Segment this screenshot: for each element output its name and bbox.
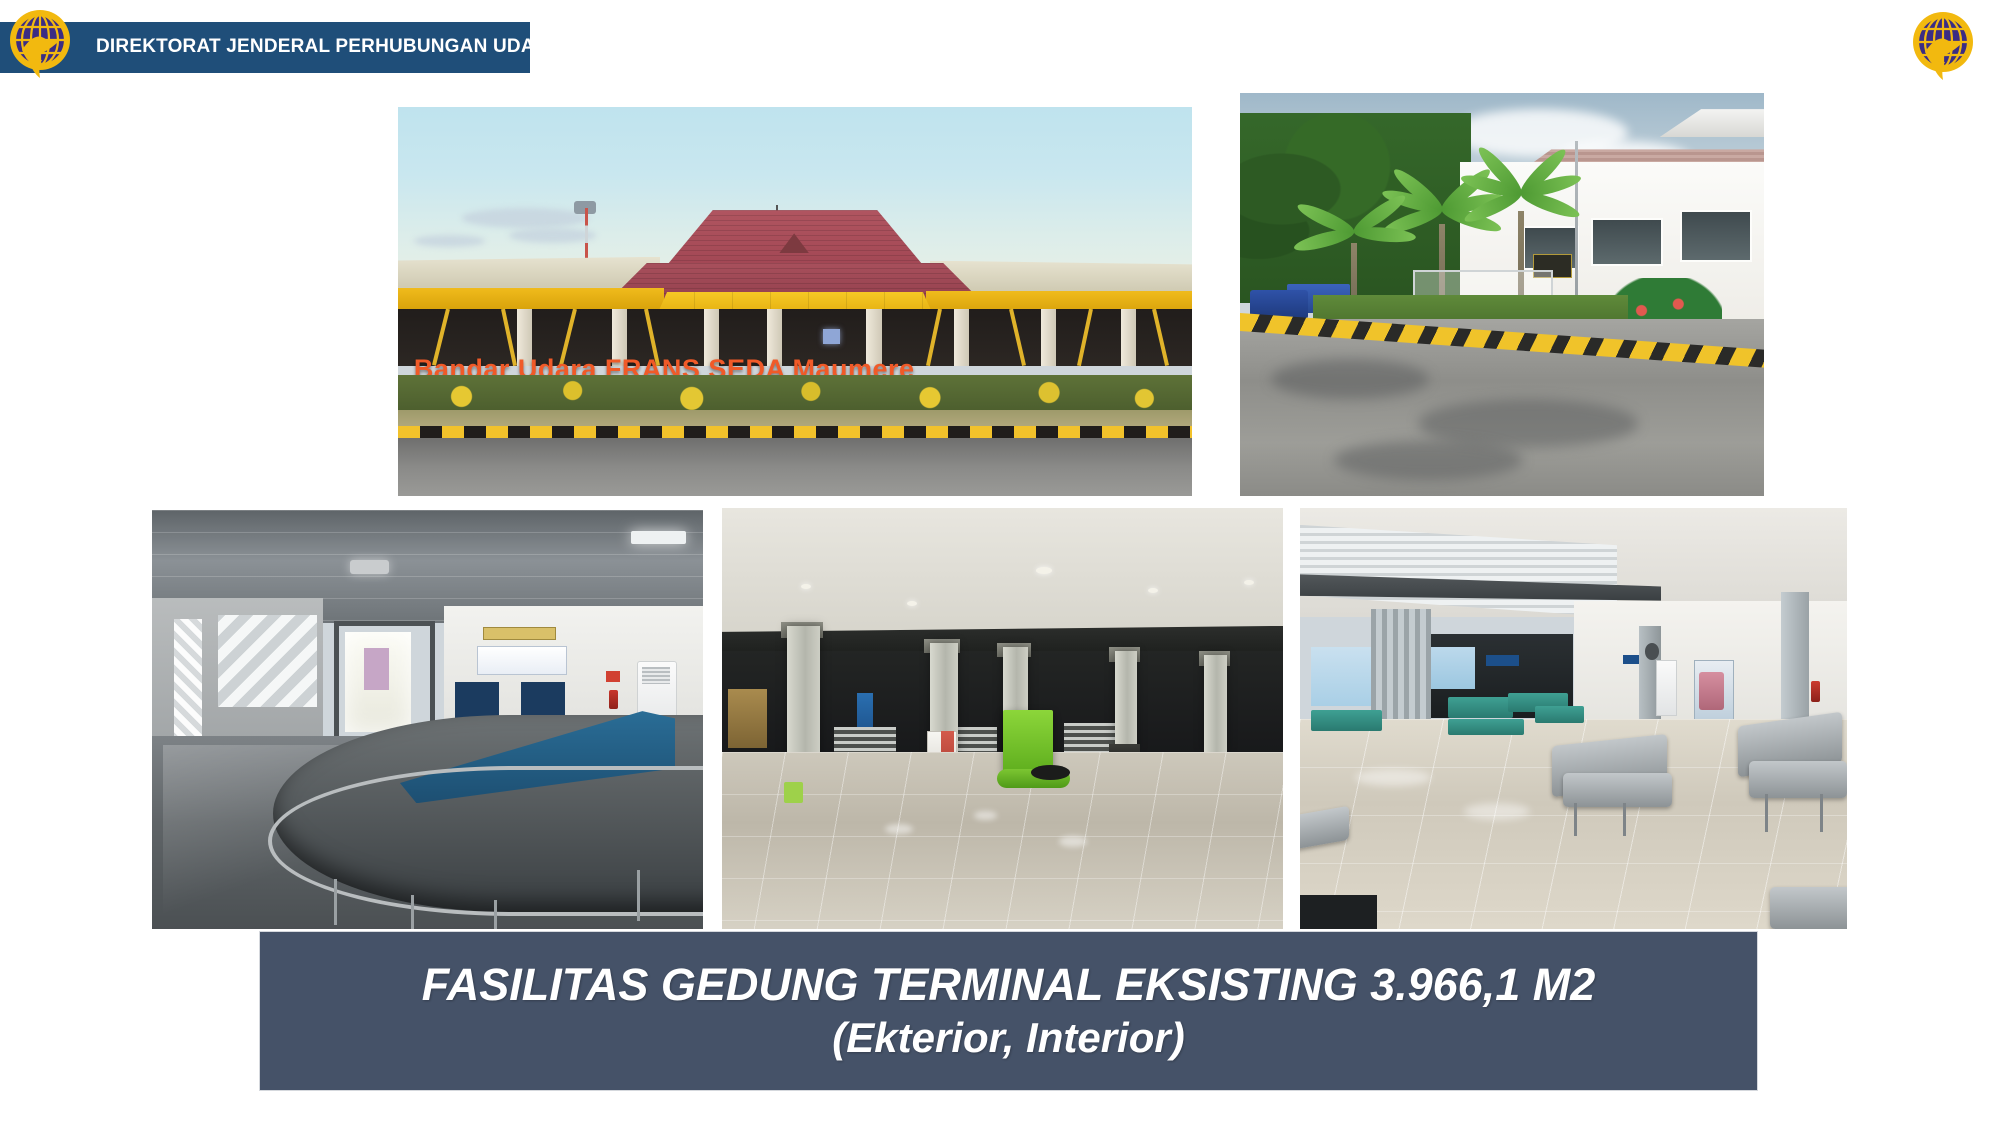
baggage-inlet-hood <box>455 682 499 720</box>
ceiling-speaker <box>1036 567 1052 574</box>
wooden-partition <box>728 689 767 748</box>
marble-column <box>787 626 821 761</box>
cloud <box>509 228 596 244</box>
header-title: DIREKTORAT JENDERAL PERHUBUNGAN UDARA <box>96 30 526 64</box>
photo-baggage-claim <box>152 510 703 929</box>
cloud <box>414 235 485 247</box>
photo-terminal-side <box>1240 93 1764 496</box>
waiting-seat-row <box>1448 697 1514 718</box>
painted-curb <box>398 426 1192 439</box>
waiting-seat-row <box>1770 887 1847 929</box>
flight-information-display <box>1486 655 1519 666</box>
decorative-wall-panel <box>218 615 317 707</box>
fire-extinguisher-icon <box>609 690 618 709</box>
ceiling-light <box>350 560 389 573</box>
baggage-inlet-hood <box>521 682 565 720</box>
ceiling-downlight <box>801 584 811 589</box>
hall-ceiling <box>722 508 1283 634</box>
floor-reflection <box>974 811 996 819</box>
floor-reflection <box>885 824 913 835</box>
wet-patch <box>1271 359 1428 399</box>
floor-standing-ac <box>1656 660 1677 717</box>
carousel-leg <box>334 879 337 925</box>
wall-banner <box>477 646 567 675</box>
photo-checkin-hall <box>722 508 1283 929</box>
information-display <box>823 329 840 345</box>
foreground-shadow <box>1300 895 1377 929</box>
access-road <box>398 438 1192 496</box>
floor-reflection <box>1059 836 1087 847</box>
wall-fan-icon <box>1645 643 1659 660</box>
xray-scanner <box>1003 710 1053 773</box>
globe-garuda-logo-icon <box>8 6 76 82</box>
ceiling-light <box>631 531 686 544</box>
roof-wing-left <box>398 257 660 288</box>
photo-terminal-front: Bandar Udara FRANS SEDA Maumere <box>398 107 1192 496</box>
marble-column <box>1204 655 1226 752</box>
cloud <box>462 208 589 227</box>
exterior-window <box>1311 647 1377 706</box>
carousel-leg <box>637 870 640 920</box>
banner-figure <box>1699 672 1724 710</box>
ac-grill <box>642 667 670 684</box>
flower-hedge <box>398 375 1192 414</box>
waiting-seat-row <box>1749 761 1847 799</box>
globe-garuda-logo-icon <box>1911 8 1979 84</box>
waiting-seat-row <box>1563 773 1672 807</box>
title-banner: FASILITAS GEDUNG TERMINAL EKSISTING 3.96… <box>260 932 1757 1090</box>
floor-reflection <box>1464 803 1530 820</box>
roof-wing-right <box>930 261 1192 292</box>
waiting-seat-row <box>1448 719 1525 736</box>
wet-patch <box>1334 440 1523 480</box>
fire-extinguisher-sign-icon <box>606 671 620 682</box>
ceiling-downlight <box>1244 580 1254 585</box>
floor-reflection <box>1355 769 1432 786</box>
banner-title-line2: (Ekterior, Interior) <box>832 1015 1184 1061</box>
carousel-leg <box>411 895 414 929</box>
plastic-stool <box>784 782 804 803</box>
waiting-seat-row <box>1535 706 1584 723</box>
fire-extinguisher-icon <box>1811 681 1819 702</box>
xray-tray <box>1031 765 1070 780</box>
wall-column <box>1781 592 1808 735</box>
seat-leg <box>1820 794 1823 832</box>
carousel-leg <box>494 900 497 929</box>
waiting-seat-row <box>1311 710 1382 731</box>
photo-waiting-lounge <box>1300 508 1847 929</box>
marble-column <box>1115 651 1137 752</box>
outdoor-cabinet <box>364 648 389 690</box>
canopy-fascia-left <box>398 288 664 309</box>
ceiling-downlight <box>907 601 917 606</box>
wall-sign <box>483 627 557 640</box>
banner-title-line1: FASILITAS GEDUNG TERMINAL EKSISTING 3.96… <box>422 961 1596 1008</box>
seat-leg <box>1574 803 1577 837</box>
building-window <box>1680 210 1752 262</box>
seat-leg <box>1765 794 1768 832</box>
building-window <box>1591 218 1663 266</box>
exterior-window <box>1431 647 1475 689</box>
seat-leg <box>1623 803 1626 837</box>
